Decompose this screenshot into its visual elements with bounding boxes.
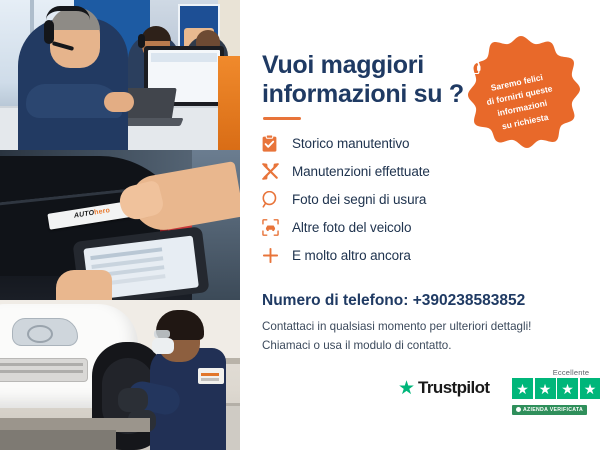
feature-item-altre-foto-veicolo: Altre foto del veicolo bbox=[262, 214, 542, 241]
feature-item-foto-segni-usura: Foto dei segni di usura bbox=[262, 186, 542, 213]
feature-label: Storico manutentivo bbox=[292, 136, 409, 151]
photo-call-center bbox=[0, 0, 240, 150]
trustpilot-name: Trustpilot bbox=[418, 378, 489, 398]
content-panel: Vuoi maggiori informazioni su ? Saremo f… bbox=[240, 0, 600, 450]
feature-label: Manutenzioni effettuate bbox=[292, 164, 430, 179]
trustpilot-brand: ★ Trustpilot bbox=[398, 378, 490, 398]
headset-earpiece bbox=[44, 20, 54, 44]
feature-label: E molto altro ancora bbox=[292, 248, 411, 263]
photo-mechanic-lift bbox=[0, 300, 240, 450]
title-underline-rule bbox=[263, 117, 301, 120]
feature-item-manutenzioni-effettuate: Manutenzioni effettuate bbox=[262, 158, 542, 185]
advertisement-banner: AUTOhero Vuoi m bbox=[0, 0, 600, 450]
phone-label: Numero di telefono: bbox=[262, 292, 413, 309]
photo-column: AUTOhero bbox=[0, 0, 240, 450]
verified-text: AZIENDA VERIFICATA bbox=[523, 407, 583, 413]
check-dot-icon bbox=[516, 407, 521, 412]
contact-subtext-line-2: Chiamaci o usa il modulo di contatto. bbox=[262, 339, 451, 352]
star-icon: ★ bbox=[557, 378, 578, 399]
plus-icon bbox=[262, 247, 292, 264]
phone-line: Numero di telefono: +390238583852 bbox=[262, 292, 525, 310]
star-icon: ★ bbox=[512, 378, 533, 399]
feature-list: Storico manutentivo Manutenzioni effettu… bbox=[262, 130, 542, 270]
star-icon: ★ bbox=[398, 379, 415, 398]
magnifier-icon bbox=[262, 191, 292, 208]
photo-car-inspection: AUTOhero bbox=[0, 150, 240, 300]
uniform-logo-patch bbox=[198, 368, 224, 384]
rating-label: Eccellente bbox=[512, 368, 600, 377]
clipboard-check-icon bbox=[262, 135, 292, 152]
orange-cone bbox=[218, 56, 240, 150]
car-headlight bbox=[12, 318, 78, 346]
mechanic-glove-upper bbox=[118, 388, 148, 412]
headset-band bbox=[46, 6, 90, 20]
feature-item-molto-altro: E molto altro ancora bbox=[262, 242, 542, 269]
face-mask bbox=[152, 338, 174, 354]
star-icon: ★ bbox=[580, 378, 600, 399]
lift-base bbox=[0, 430, 116, 450]
safety-glasses bbox=[154, 330, 170, 338]
agent-hand bbox=[104, 92, 134, 112]
heading-line-1: Vuoi maggiori bbox=[262, 51, 424, 79]
star-icon: ★ bbox=[535, 378, 556, 399]
verified-badge: AZIENDA VERIFICATA bbox=[512, 405, 587, 415]
feature-item-storico-manutentivo: Storico manutentivo bbox=[262, 130, 542, 157]
phone-number[interactable]: +390238583852 bbox=[413, 292, 526, 309]
feature-label: Altre foto del veicolo bbox=[292, 220, 411, 235]
car-scan-icon bbox=[262, 219, 292, 236]
car-grille bbox=[0, 358, 88, 382]
heading-line-2: informazioni su ? bbox=[262, 80, 464, 108]
page-title: Vuoi maggiori informazioni su ? bbox=[262, 51, 492, 109]
contact-subtext: Contattaci in qualsiasi momento per ulte… bbox=[262, 318, 562, 355]
person-left-hand bbox=[56, 270, 112, 300]
trustpilot-rating: Eccellente ★ ★ ★ ★ ★ AZIENDA VERIFICATA bbox=[512, 368, 600, 417]
contact-subtext-line-1: Contattaci in qualsiasi momento per ulte… bbox=[262, 320, 531, 333]
trustpilot-widget[interactable]: ★ Trustpilot Eccellente ★ ★ ★ ★ ★ AZIEND… bbox=[398, 368, 588, 418]
rating-stars: ★ ★ ★ ★ ★ bbox=[512, 378, 600, 399]
feature-label: Foto dei segni di usura bbox=[292, 192, 426, 207]
crossed-tools-icon bbox=[262, 163, 292, 180]
